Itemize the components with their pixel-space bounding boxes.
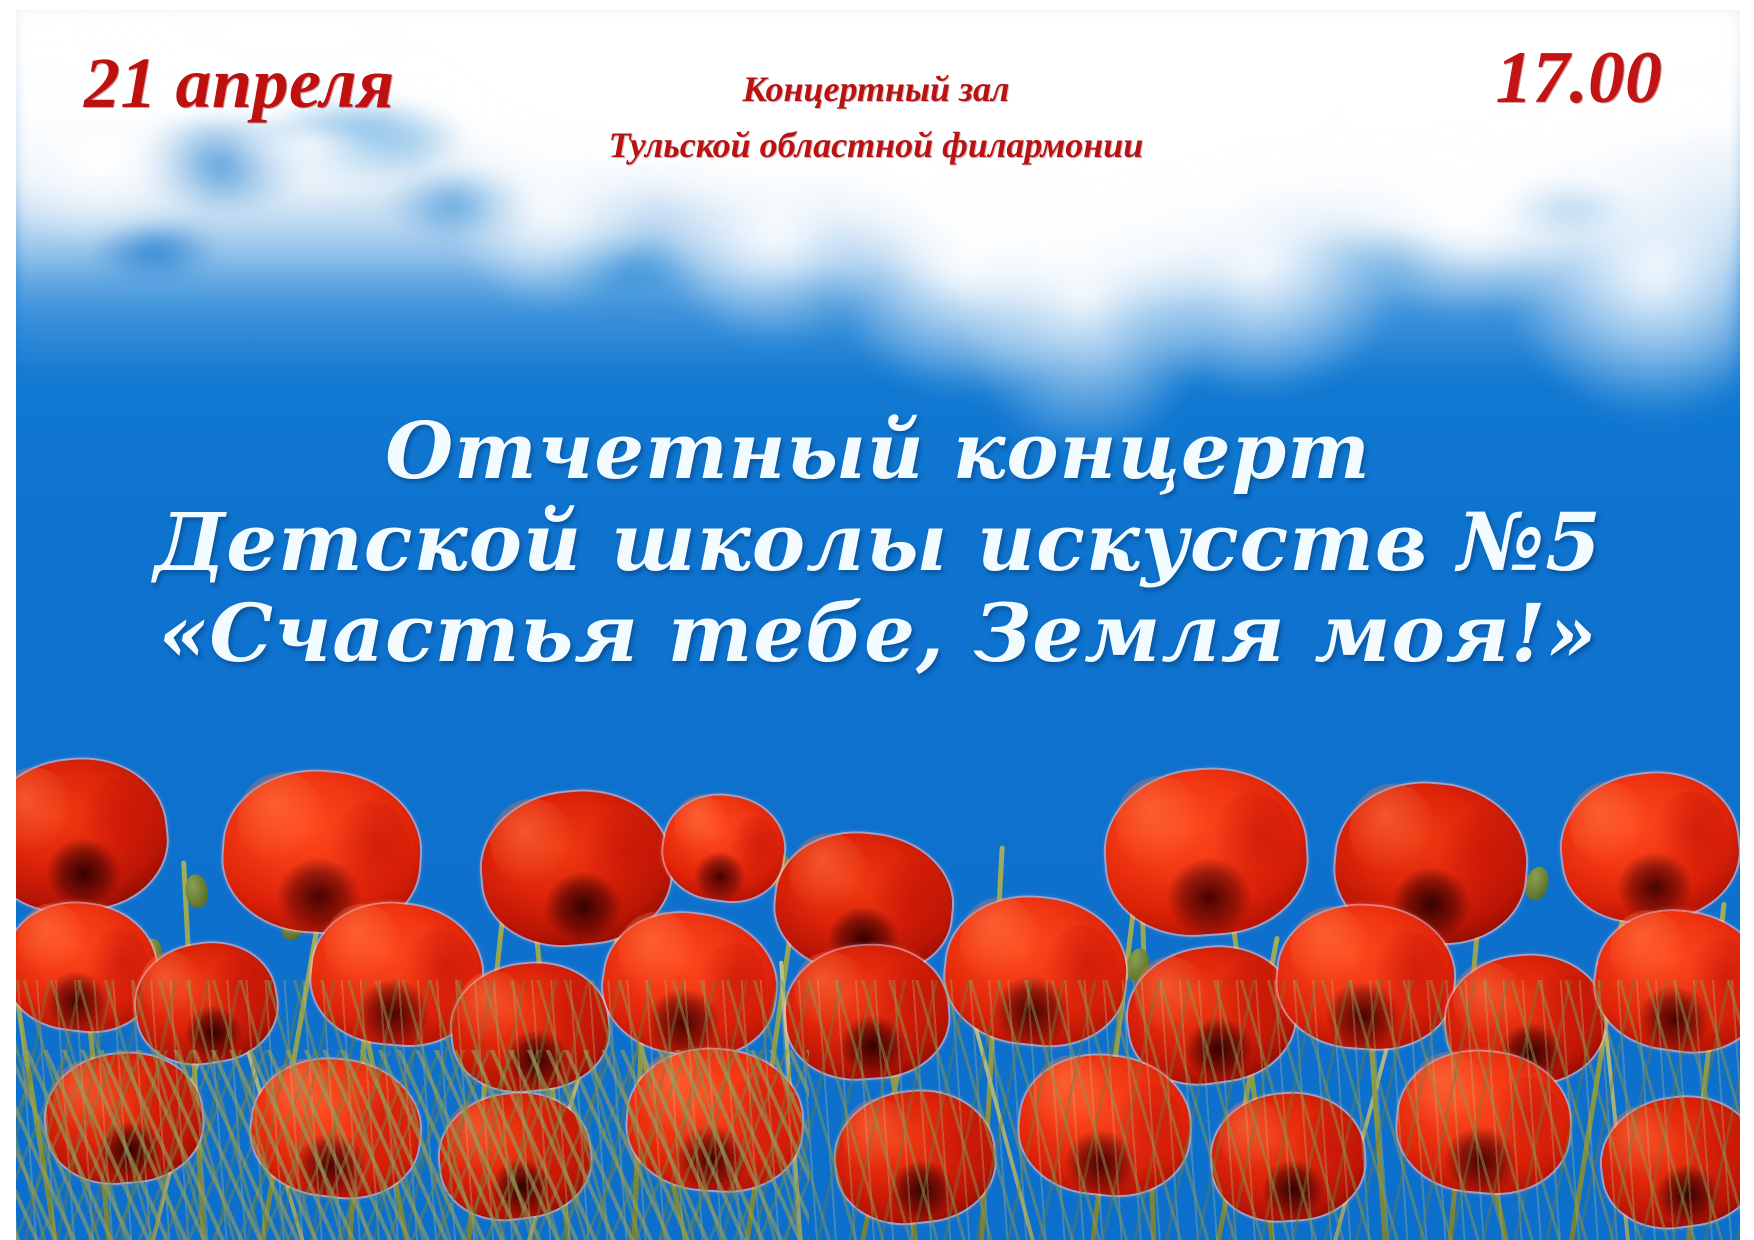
poppy-flower	[16, 751, 173, 919]
cloud-lower-edge	[16, 130, 1740, 470]
poppy-bud	[1522, 864, 1552, 902]
event-time: 17.00	[1496, 36, 1663, 121]
venue-line-1: Концертный зал	[742, 69, 1009, 109]
event-date: 21 апреля	[84, 42, 395, 125]
poppy-flower	[1101, 763, 1312, 941]
stem-thicket-dense	[16, 1050, 809, 1240]
poppy-field	[16, 680, 1740, 1240]
poppy-flower	[657, 788, 790, 908]
venue-block: Концертный зал Тульской областной филарм…	[496, 62, 1256, 174]
poster-artwork: 21 апреля Концертный зал Тульской област…	[16, 10, 1740, 1240]
poppy-flower	[1554, 764, 1740, 930]
venue-line-2: Тульской областной филармонии	[496, 118, 1256, 174]
concert-poster: 21 апреля Концертный зал Тульской област…	[0, 0, 1754, 1240]
